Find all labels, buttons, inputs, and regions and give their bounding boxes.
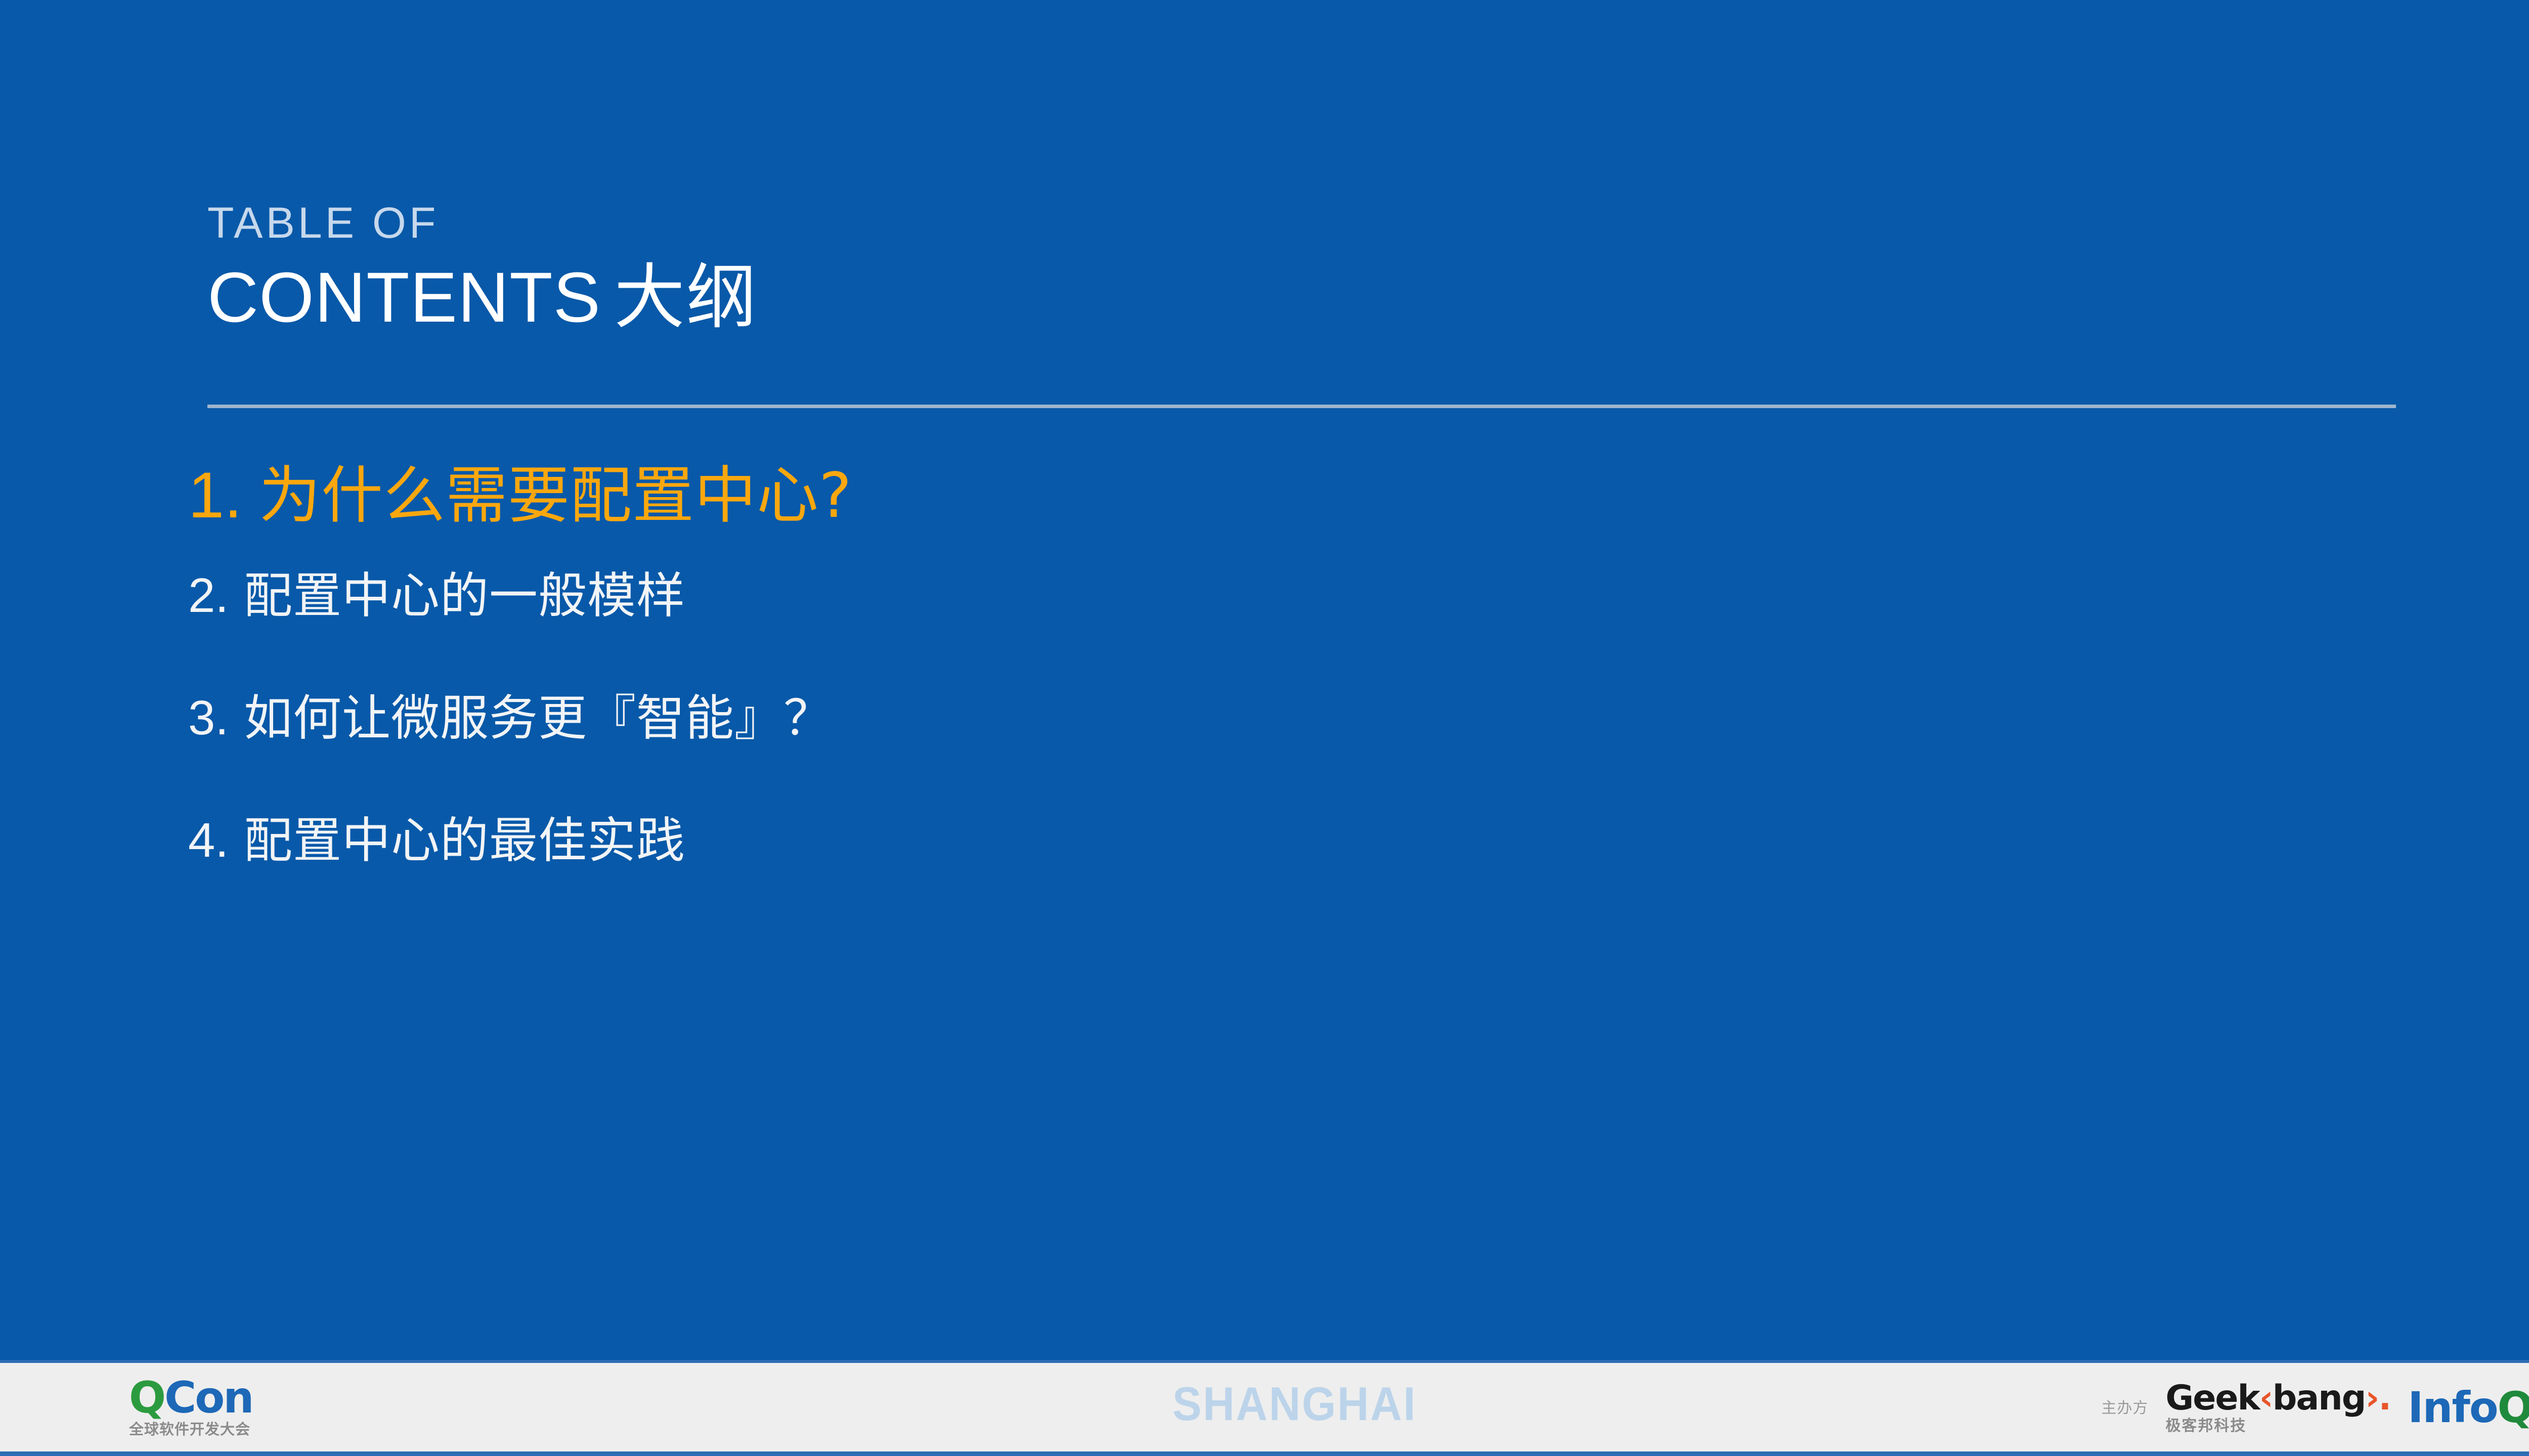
geekbang-logo: Geek‹bang›. 极客邦科技 [2165,1381,2390,1434]
agenda-item-2[interactable]: 2. 配置中心的一般模样 [188,556,2414,635]
page-title: CONTENTS大纲 [207,258,2397,337]
agenda-item-4[interactable]: 4. 配置中心的最佳实践 [188,801,2414,880]
agenda-item-4-number: 4. [188,801,233,880]
agenda-item-3[interactable]: 3. 如何让微服务更『智能』？ [188,679,2414,758]
agenda-item-1[interactable]: 1. 为什么需要配置中心? [188,445,2414,546]
infoq-logo: InfoQ中文站 [2408,1386,2529,1429]
slide-header: TABLE OF CONTENTS大纲 [207,201,2397,337]
sponsor-cluster: 主办方 Geek‹bang›. 极客邦科技 InfoQ中文站 [2101,1363,2529,1451]
geekbang-part-bang: bang [2273,1378,2366,1418]
agenda-item-2-number: 2. [188,556,233,635]
chevron-right-icon: › [2365,1378,2378,1418]
chevron-left-icon: ‹ [2259,1378,2273,1418]
slide-footer: QCon 全球软件开发大会 SHANGHAI 主办方 Geek‹bang›. 极… [0,1360,2529,1456]
geekbang-part-geek: Geek [2165,1378,2259,1418]
presentation-slide: TABLE OF CONTENTS大纲 1. 为什么需要配置中心? 2. 配置中… [0,0,2529,1456]
agenda-item-2-label: 配置中心的一般模样 [244,556,685,635]
agenda-list: 1. 为什么需要配置中心? 2. 配置中心的一般模样 3. 如何让微服务更『智能… [188,445,2414,880]
agenda-item-3-number: 3. [188,679,233,758]
geekbang-subtitle: 极客邦科技 [2165,1419,2390,1434]
agenda-item-1-number: 1. [188,445,242,546]
footer-content: QCon 全球软件开发大会 SHANGHAI 主办方 Geek‹bang›. 极… [0,1363,2529,1451]
geekbang-wordmark: Geek‹bang›. [2165,1381,2390,1416]
slide-eyebrow-label: TABLE OF [207,201,2397,245]
header-divider [207,405,2396,408]
agenda-item-4-label: 配置中心的最佳实践 [244,801,685,880]
geekbang-dot-icon: . [2378,1378,2390,1418]
host-label: 主办方 [2101,1395,2148,1420]
agenda-item-1-label: 为什么需要配置中心? [259,445,852,546]
page-title-chinese: 大纲 [614,257,758,337]
agenda-item-3-label: 如何让微服务更『智能』？ [244,679,833,758]
page-title-english: CONTENTS [207,257,601,337]
infoq-part-info: Info [2408,1383,2497,1432]
infoq-part-q: Q [2498,1383,2529,1432]
